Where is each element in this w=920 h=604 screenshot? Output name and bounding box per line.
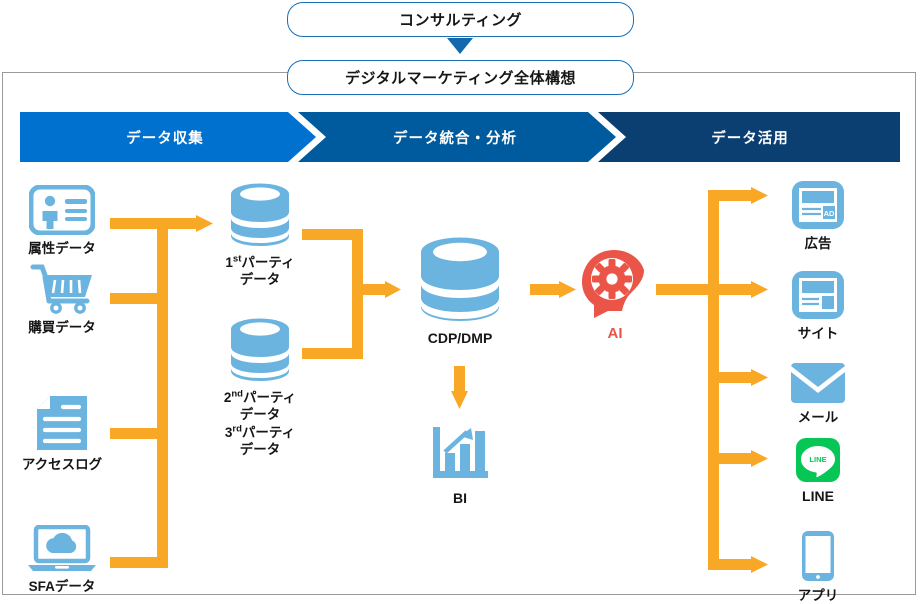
output-label-line: LINE [802,488,834,506]
mail-icon [790,362,846,404]
output-label-mail: メール [798,409,839,426]
source-label-purchase: 購買データ [28,319,96,336]
wire-left-out [157,218,199,229]
source-node-purchase: 購買データ [20,262,104,336]
cdp-dmp-node: CDP/DMP [400,235,520,348]
bi-node: BI [425,425,495,508]
wire-out-2 [708,284,754,295]
laptop-cloud-icon [26,525,98,573]
document-icon [33,395,91,451]
cdp-dmp-label: CDP/DMP [428,330,493,348]
phase-label-collect: データ収集 [20,112,310,162]
wire-out-1 [708,190,754,201]
wire-cdp-bi [454,366,465,394]
wire-out-4 [708,453,754,464]
vision-box: デジタルマーケティング全体構想 [287,60,634,95]
smartphone-icon [801,530,835,582]
party-line: データ [240,442,281,457]
output-node-mail: メール [785,362,851,426]
source-node-accesslog: アクセスログ [20,395,104,473]
source-label-sfa: SFAデータ [29,578,96,595]
party-line: データ [240,407,281,422]
database-icon [419,235,501,325]
ad-banner-icon: AD [791,180,845,230]
consulting-label: コンサルティング [399,9,522,30]
output-label-site: サイト [798,325,839,342]
arrowhead-to-app [751,556,768,573]
wire-mid-out [352,284,388,295]
source-node-sfa: SFAデータ [20,525,104,595]
source-label-accesslog: アクセスログ [22,456,102,473]
party-line: 2ndパーティ [224,390,296,405]
party-label-second-third: 2ndパーティ データ 3rdパーティ データ [224,388,296,458]
party-line: 1stパーティ [225,255,294,270]
output-node-site: サイト [785,270,851,342]
source-label-attribute: 属性データ [28,240,96,257]
vision-label: デジタルマーケティング全体構想 [345,67,576,88]
id-card-icon [29,185,95,235]
shopping-cart-icon [29,262,95,314]
arrowhead-to-ai [559,281,576,298]
arrowhead-to-bi [451,391,468,409]
party-line: 3rdパーティ [225,425,295,440]
wire-cdp-ai [530,284,562,295]
output-node-line: LINE LINE [785,437,851,506]
arrowhead-to-line [751,450,768,467]
wire-out-5 [708,559,754,570]
output-node-app: アプリ [785,530,851,604]
party-line: データ [240,272,281,287]
consulting-box: コンサルティング [287,2,634,37]
ai-head-gear-icon [578,248,652,322]
database-icon [229,182,291,248]
output-label-app: アプリ [798,587,839,604]
wire-out-3 [708,372,754,383]
party-node-first: 1stパーティ データ [200,182,320,288]
svg-text:LINE: LINE [809,455,826,464]
ai-node: AI [575,248,655,342]
arrowhead-to-cdp [385,281,401,298]
down-triangle-icon [447,38,473,54]
source-node-attribute: 属性データ [20,185,104,257]
bar-chart-arrow-icon [429,425,491,485]
party-node-second-third: 2ndパーティ データ 3rdパーティ データ [200,317,320,458]
line-app-icon: LINE [795,437,841,483]
database-icon [229,317,291,383]
party-label-first: 1stパーティ データ [225,253,294,288]
ai-label: AI [608,325,623,342]
output-node-ad: AD 広告 [785,180,851,252]
svg-text:AD: AD [824,209,835,218]
arrowhead-to-mail [751,369,768,386]
arrowhead-to-ad [751,187,768,204]
output-label-ad: 広告 [805,235,832,252]
phase-label-utilize: データ活用 [600,112,900,162]
website-icon [791,270,845,320]
wire-left-trunk [157,218,168,568]
arrowhead-to-site [751,281,768,298]
phase-label-integrate: データ統合・分析 [310,112,600,162]
bi-label: BI [453,490,467,508]
